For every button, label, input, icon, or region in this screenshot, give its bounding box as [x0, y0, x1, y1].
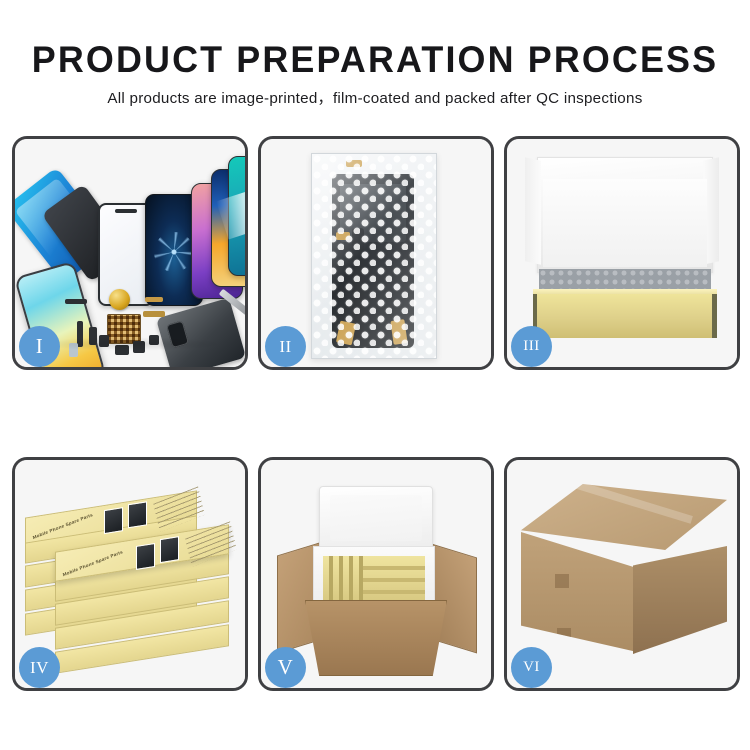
carton-front-face	[521, 532, 637, 652]
box-artwork-thumb	[136, 543, 155, 570]
carton-tape-mark	[557, 628, 571, 642]
inner-box-divider	[363, 578, 425, 582]
carton-body	[305, 600, 447, 676]
process-step-4: Mobile Phone Spare Parts Mobile Phone Sp…	[12, 457, 248, 691]
inner-box-divider	[363, 590, 425, 594]
flex-cable-icon	[143, 311, 165, 317]
step-badge-5: V	[265, 647, 306, 688]
inner-box-divider	[339, 556, 343, 600]
flex-cable-icon	[145, 297, 163, 302]
box-artwork-thumb	[104, 507, 123, 534]
bubble-wrap-bag	[311, 153, 437, 359]
inner-box-divider	[363, 566, 425, 570]
carton-tape-mark	[555, 574, 569, 588]
carton-top-face	[521, 484, 727, 550]
box-artwork-thumb	[160, 536, 179, 563]
inner-box-divider	[349, 556, 353, 600]
page-title: PRODUCT PREPARATION PROCESS	[11, 38, 739, 82]
drop-shadow	[35, 337, 225, 351]
header: PRODUCT PREPARATION PROCESS All products…	[0, 0, 750, 109]
page-subtitle: All products are image-printed，film-coat…	[0, 89, 750, 109]
step-badge-4: IV	[19, 647, 60, 688]
vibration-motor-icon	[109, 289, 130, 310]
component-icon	[65, 299, 87, 304]
box-artwork-thumb	[128, 501, 147, 528]
foam-lid-open	[319, 486, 433, 550]
plastic-sheen	[312, 154, 436, 358]
box-stack: Mobile Phone Spare Parts Mobile Phone Sp…	[23, 480, 235, 676]
carton-seam	[547, 472, 693, 524]
inner-boxes-group	[323, 556, 425, 600]
step-badge-1: I	[19, 326, 60, 367]
process-step-6: VI	[504, 457, 740, 691]
screen-graphic-icon	[154, 232, 194, 272]
process-step-1: I	[12, 136, 248, 370]
process-step-5: V	[258, 457, 494, 691]
foam-lid-left-flap	[525, 157, 541, 264]
process-step-3: III	[504, 136, 740, 370]
process-step-grid: I II	[12, 136, 740, 690]
step-badge-2: II	[265, 326, 306, 367]
process-step-2: II	[258, 136, 494, 370]
step-badge-6: VI	[511, 647, 552, 688]
phone-chassis-icon	[156, 298, 245, 367]
inner-box-divider	[329, 556, 333, 600]
step-badge-3: III	[511, 326, 552, 367]
carton-side-face	[633, 546, 727, 654]
phone-teal-icon	[228, 156, 245, 276]
foam-sheet	[543, 179, 707, 267]
sealed-carton	[521, 484, 727, 664]
yellow-box-tray	[533, 294, 717, 338]
